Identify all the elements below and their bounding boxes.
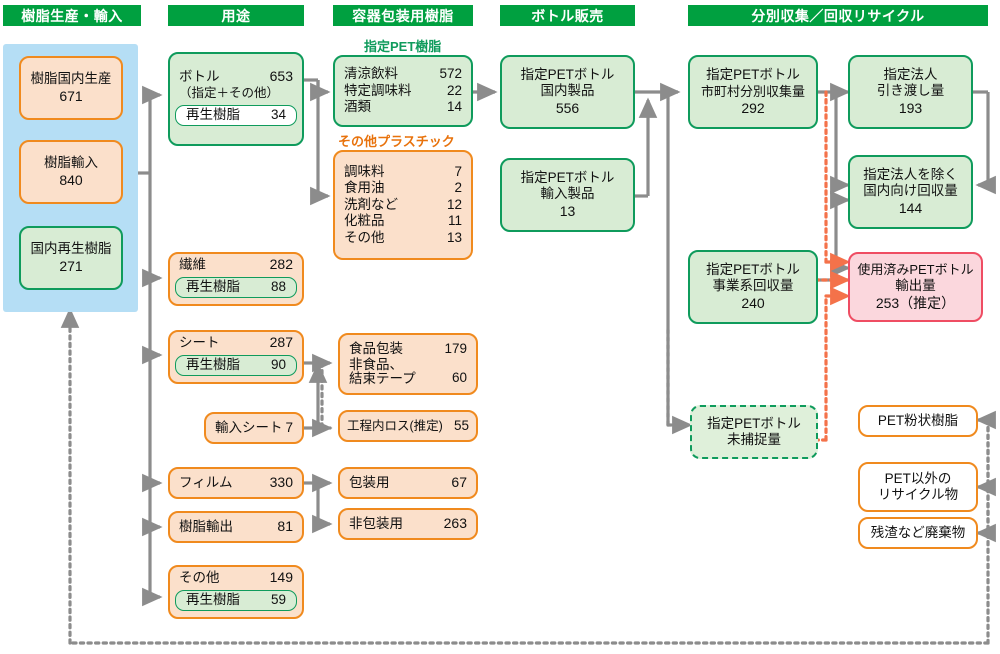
import-sheet-label: 輸入シート [215, 420, 283, 437]
box-film-non-packaging[interactable]: 非包装用 263 [338, 508, 478, 540]
row-label: 包装用 [349, 475, 390, 492]
box-usage-fiber[interactable]: 繊維 282 再生樹脂 88 [168, 252, 304, 306]
sheet-label: シート [179, 335, 220, 352]
box-bottle-domestic[interactable]: 指定PETボトル 国内製品 556 [500, 55, 635, 129]
table-row: 洗剤など 12 [335, 197, 471, 213]
table-row: 清涼飲料 572 [335, 66, 471, 82]
fiber-label: 繊維 [179, 257, 206, 274]
bottle-subtitle: （指定＋その他） [170, 86, 302, 102]
box-value: 253（推定） [850, 295, 981, 312]
row-label: 洗剤など [344, 197, 398, 213]
box-domestic-production[interactable]: 樹脂国内生産 671 [19, 56, 123, 120]
box-line1: 指定法人 [850, 67, 971, 83]
header-container-packaging-resin: 容器包装用樹脂 [333, 5, 473, 26]
pill-value: 34 [271, 107, 286, 124]
box-label: 樹脂国内生産 [21, 71, 121, 88]
caption-other-plastics: その他プラスチック [338, 131, 455, 150]
box-line1: 指定PETボトル [692, 416, 816, 432]
box-line1: 指定PETボトル [502, 170, 633, 186]
film-label: フィルム [179, 475, 232, 492]
box-line2: 輸入製品 [502, 186, 633, 202]
header-bottle-sales: ボトル販売 [500, 5, 635, 26]
bottle-main-row: ボトル 653 [170, 68, 302, 86]
header-resin-production-import: 樹脂生産・輸入 [3, 5, 141, 26]
box-designated-pet-resin[interactable]: 清涼飲料 572 特定調味料 22 酒類 14 [333, 55, 473, 127]
box-line2: 国内製品 [502, 83, 633, 99]
fiber-value: 282 [270, 256, 293, 274]
other-recycled-pill: 再生樹脂 59 [175, 590, 297, 611]
row-label: 清涼飲料 [344, 66, 398, 82]
box-value: 13 [502, 203, 633, 220]
process-loss-label: 工程内ロス(推定) [347, 419, 443, 435]
fiber-recycled-pill: 再生樹脂 88 [175, 277, 297, 298]
box-line1: 指定PETボトル [690, 262, 816, 278]
row-label-line1: 非食品、 [349, 357, 403, 372]
box-line1: 指定法人を除く [850, 167, 971, 183]
row-label: 酒類 [344, 99, 371, 115]
row-value: 22 [447, 83, 462, 99]
box-line2: 引き渡し量 [850, 83, 971, 99]
table-row: 食用油 2 [335, 180, 471, 196]
box-process-loss[interactable]: 工程内ロス(推定) 55 [338, 410, 478, 442]
pill-label: 再生樹脂 [186, 357, 240, 374]
sheet-recycled-pill: 再生樹脂 90 [175, 355, 297, 376]
row-value: 572 [439, 66, 462, 82]
table-row: 化粧品 11 [335, 213, 471, 229]
resin-export-value: 81 [277, 518, 293, 536]
other-label: その他 [179, 570, 220, 587]
box-used-pet-bottle-export[interactable]: 使用済みPETボトル 輸出量 253（推定） [848, 252, 983, 322]
row-value: 12 [447, 197, 462, 213]
box-label: PET粉状樹脂 [860, 413, 976, 430]
box-value: 193 [850, 100, 971, 117]
row-label: 非包装用 [349, 516, 403, 533]
box-non-pet-recycled[interactable]: PET以外の リサイクル物 [858, 462, 978, 512]
sheet-main-row: シート 287 [170, 334, 302, 352]
box-designated-org-transfer[interactable]: 指定法人 引き渡し量 193 [848, 55, 973, 129]
other-main-row: その他 149 [170, 569, 302, 587]
sheet-value: 287 [270, 334, 293, 352]
table-row: 非食品、 結束テープ 60 [340, 358, 476, 387]
table-row: 食品包装 179 [340, 341, 476, 357]
box-value: 240 [690, 295, 816, 312]
box-domestic-recycled-resin[interactable]: 国内再生樹脂 271 [19, 226, 123, 290]
box-line2: 事業系回収量 [690, 278, 816, 294]
box-line1: 指定PETボトル [690, 67, 816, 83]
row-label: 食品包装 [349, 341, 403, 357]
resin-export-label: 樹脂輸出 [179, 519, 233, 536]
box-label: 残渣など廃棄物 [860, 525, 976, 542]
process-loss-value: 55 [454, 418, 469, 435]
flow-diagram: 樹脂生産・輸入 用途 容器包装用樹脂 ボトル販売 分別収集／回収リサイクル 樹脂… [0, 0, 1000, 654]
film-value: 330 [270, 474, 293, 492]
row-value: 179 [444, 341, 467, 357]
box-usage-resin-export[interactable]: 樹脂輸出 81 [168, 511, 304, 543]
row-value: 7 [454, 164, 462, 180]
other-value: 149 [270, 569, 293, 587]
row-value: 14 [447, 99, 462, 115]
header-usage: 用途 [168, 5, 304, 26]
row-label: 特定調味料 [344, 83, 412, 99]
box-label: 国内再生樹脂 [21, 241, 121, 258]
row-value: 11 [448, 213, 462, 229]
box-municipal-collection[interactable]: 指定PETボトル 市町村分別収集量 292 [688, 55, 818, 129]
box-line2: 国内向け回収量 [850, 183, 971, 199]
box-value: 671 [21, 88, 121, 106]
resin-export-row: 樹脂輸出 81 [170, 518, 302, 536]
box-business-collection[interactable]: 指定PETボトル 事業系回収量 240 [688, 250, 818, 324]
row-value: 263 [444, 515, 467, 533]
header-separate-collection-recycle: 分別収集／回収リサイクル [688, 5, 988, 26]
header-label: 分別収集／回収リサイクル [751, 6, 924, 26]
box-residue-waste[interactable]: 残渣など廃棄物 [858, 517, 978, 549]
header-label: ボトル販売 [531, 6, 604, 26]
row-label: その他 [344, 230, 385, 246]
pill-value: 88 [271, 279, 286, 296]
caption-text: その他プラスチック [338, 134, 455, 149]
row-value: 67 [451, 474, 467, 492]
import-sheet-value: 7 [285, 420, 293, 437]
table-row: その他 13 [335, 230, 471, 246]
box-usage-other[interactable]: その他 149 再生樹脂 59 [168, 565, 304, 619]
pill-value: 59 [271, 592, 286, 609]
import-sheet-row: 輸入シート 7 [206, 420, 302, 437]
bottle-value: 653 [270, 68, 293, 86]
table-row: 酒類 14 [335, 99, 471, 115]
box-value: 271 [21, 258, 121, 276]
box-pet-powder-resin[interactable]: PET粉状樹脂 [858, 405, 978, 437]
process-loss-row: 工程内ロス(推定) 55 [340, 418, 476, 435]
box-bottle-imported[interactable]: 指定PETボトル 輸入製品 13 [500, 158, 635, 232]
box-line1: 指定PETボトル [502, 67, 633, 83]
row-label: 化粧品 [344, 213, 385, 229]
box-usage-film[interactable]: フィルム 330 [168, 467, 304, 499]
pill-label: 再生樹脂 [186, 107, 240, 124]
box-usage-bottle[interactable]: ボトル 653 （指定＋その他） 再生樹脂 34 [168, 52, 304, 146]
header-label: 用途 [222, 6, 251, 26]
box-line1: 使用済みPETボトル [850, 262, 981, 278]
box-usage-import-sheet[interactable]: 輸入シート 7 [204, 412, 304, 444]
box-uncaptured[interactable]: 指定PETボトル 未捕捉量 [690, 405, 818, 459]
box-film-packaging[interactable]: 包装用 67 [338, 467, 478, 499]
pill-label: 再生樹脂 [186, 279, 240, 296]
fiber-main-row: 繊維 282 [170, 256, 302, 274]
row-value: 13 [447, 230, 462, 246]
row-label: 調味料 [344, 164, 385, 180]
row-value: 60 [452, 370, 467, 386]
box-label: 樹脂輸入 [21, 155, 121, 172]
box-value: 292 [690, 100, 816, 117]
caption-designated-pet-resin: 指定PET樹脂 [364, 36, 441, 55]
caption-text: 指定PET樹脂 [364, 39, 441, 54]
table-row: 調味料 7 [335, 164, 471, 180]
box-line2: リサイクル物 [860, 487, 976, 503]
box-line2: 市町村分別収集量 [690, 84, 816, 100]
box-usage-sheet[interactable]: シート 287 再生樹脂 90 [168, 330, 304, 384]
box-line2: 未捕捉量 [692, 432, 816, 448]
film-non-packaging-row: 非包装用 263 [340, 515, 476, 533]
box-excluding-designated-org[interactable]: 指定法人を除く 国内向け回収量 144 [848, 155, 973, 229]
header-label: 樹脂生産・輸入 [21, 6, 123, 26]
bottle-label: ボトル [179, 69, 220, 86]
row-label-line2: 結束テープ [349, 371, 416, 386]
box-line2: 輸出量 [850, 278, 981, 294]
header-label: 容器包装用樹脂 [352, 6, 454, 26]
pill-label: 再生樹脂 [186, 592, 240, 609]
box-value: 144 [850, 200, 971, 217]
row-value: 2 [454, 180, 462, 196]
box-line1: PET以外の [860, 471, 976, 487]
box-value: 556 [502, 100, 633, 117]
table-row: 特定調味料 22 [335, 83, 471, 99]
box-value: 840 [21, 172, 121, 190]
film-row: フィルム 330 [170, 474, 302, 492]
film-packaging-row: 包装用 67 [340, 474, 476, 492]
box-resin-import[interactable]: 樹脂輸入 840 [19, 140, 123, 204]
bottle-recycled-pill: 再生樹脂 34 [175, 105, 297, 126]
row-label: 食用油 [344, 180, 385, 196]
pill-value: 90 [271, 357, 286, 374]
box-other-plastics[interactable]: 調味料 7 食用油 2 洗剤など 12 化粧品 11 その他 13 [333, 150, 473, 260]
box-sheet-uses[interactable]: 食品包装 179 非食品、 結束テープ 60 [338, 333, 478, 395]
row-label: 非食品、 結束テープ [349, 358, 416, 387]
